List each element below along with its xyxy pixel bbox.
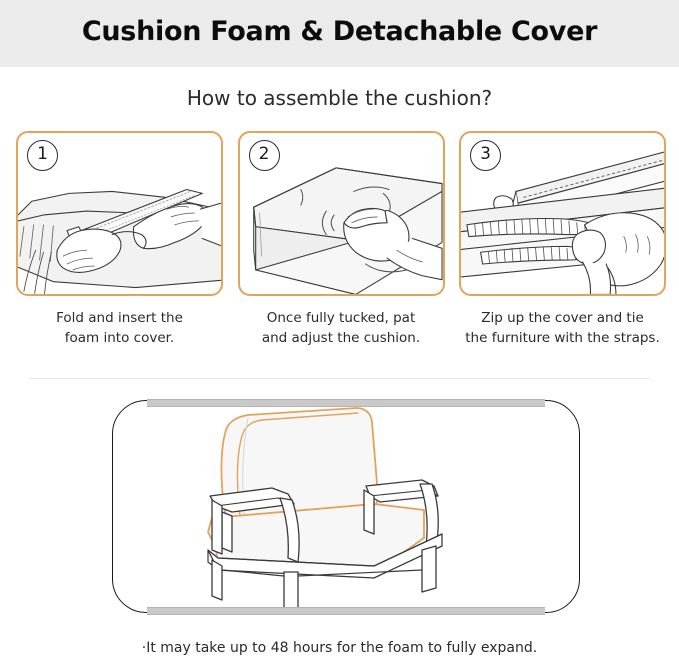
step-3-caption: Zip up the cover and tie the furniture w… — [459, 309, 666, 348]
assembly-steps: 1 Fold and insert the foam into cover. — [16, 131, 666, 348]
step-1-illustration-box: 1 — [16, 131, 223, 296]
step-3-caption-line-2: the furniture with the straps. — [459, 329, 666, 349]
step-1-caption-line-2: foam into cover. — [16, 329, 223, 349]
section-subtitle: How to assemble the cushion? — [0, 86, 679, 110]
step-1: 1 Fold and insert the foam into cover. — [16, 131, 223, 348]
step-2: 2 Once fully tucked, pat and adjust the … — [238, 131, 445, 348]
step-2-caption-line-1: Once fully tucked, pat — [238, 309, 445, 329]
step-3: 3 Zip up the cover and tie the furniture… — [459, 131, 666, 348]
step-1-number: 1 — [27, 140, 58, 171]
section-divider — [30, 378, 650, 379]
step-1-caption: Fold and insert the foam into cover. — [16, 309, 223, 348]
step-3-illustration-box: 3 — [459, 131, 666, 296]
step-2-illustration-box: 2 — [238, 131, 445, 296]
page-title: Cushion Foam & Detachable Cover — [0, 16, 679, 47]
armchair-with-cushions-icon — [112, 400, 580, 613]
panel-bottom-bar — [147, 607, 545, 615]
step-2-number: 2 — [249, 140, 280, 171]
panel-top-bar — [147, 399, 545, 407]
step-3-number: 3 — [470, 140, 501, 171]
step-2-caption-line-2: and adjust the cushion. — [238, 329, 445, 349]
step-1-caption-line-1: Fold and insert the — [16, 309, 223, 329]
footer-note: ·It may take up to 48 hours for the foam… — [0, 640, 679, 656]
step-2-caption: Once fully tucked, pat and adjust the cu… — [238, 309, 445, 348]
step-3-caption-line-1: Zip up the cover and tie — [459, 309, 666, 329]
